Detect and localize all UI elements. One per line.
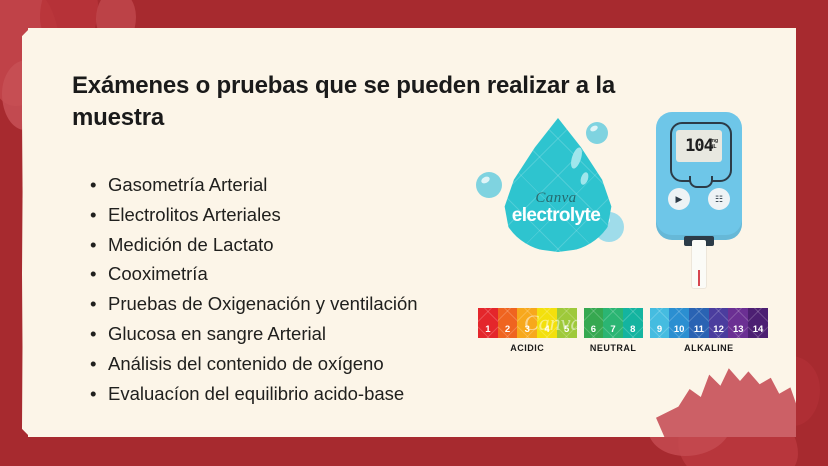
paint-splatter-decoration [656, 357, 796, 437]
ph-value-label: 9 [657, 324, 662, 338]
list-item-label: Glucosa en sangre Arterial [108, 323, 326, 344]
ph-value-label: 3 [525, 324, 530, 338]
meter-screen-notch [689, 176, 713, 188]
ph-value-label: 14 [753, 324, 764, 338]
unit-denominator: dL [711, 144, 717, 150]
ph-value-label: 12 [713, 324, 724, 338]
blood-sample-indicator [698, 270, 700, 286]
ph-group-label: ALKALINE [650, 343, 768, 353]
ph-group-label: NEUTRAL [584, 343, 643, 353]
ph-cell: 1 [478, 308, 498, 338]
list-item: •Evaluacíon del equilibrio acido-base [90, 379, 530, 409]
ph-cell: 4 [537, 308, 557, 338]
ph-cell: 8 [623, 308, 643, 338]
ph-value-label: 5 [564, 324, 569, 338]
glucose-meter-illustration: 104 mg dL ▶ ☷ [656, 112, 742, 282]
ph-group: 678 [584, 308, 643, 338]
ph-group: 91011121314 [650, 308, 768, 338]
bullet-marker-icon: • [90, 319, 96, 349]
list-item: •Glucosa en sangre Arterial [90, 319, 530, 349]
ph-scale-graphic: 1234567891011121314 ACIDICNEUTRALALKALIN… [478, 308, 768, 353]
water-bubble-icon [586, 122, 608, 144]
ph-scale-bands: 1234567891011121314 [478, 308, 768, 338]
list-item-label: Evaluacíon del equilibrio acido-base [108, 383, 404, 404]
list-item-label: Pruebas de Oxigenación y ventilación [108, 293, 418, 314]
list-item-label: Gasometría Arterial [108, 174, 267, 195]
slide-canvas: Exámenes o pruebas que se pueden realiza… [0, 0, 828, 466]
bullet-marker-icon: • [90, 170, 96, 200]
ph-value-label: 8 [630, 324, 635, 338]
list-item-label: Medición de Lactato [108, 234, 274, 255]
glucose-unit-label: mg dL [711, 139, 719, 150]
meter-left-button[interactable]: ▶ [668, 188, 690, 210]
ph-group-label: ACIDIC [478, 343, 577, 353]
ph-scale-labels: ACIDICNEUTRALALKALINE [478, 343, 768, 353]
bullet-marker-icon: • [90, 379, 96, 409]
ph-value-label: 2 [505, 324, 510, 338]
list-item-label: Electrolitos Arteriales [108, 204, 281, 225]
ph-value-label: 11 [694, 324, 704, 338]
list-item-label: Análisis del contenido de oxígeno [108, 353, 384, 374]
electrolyte-drop-illustration: Canva electrolyte [476, 112, 636, 262]
electrolyte-label: electrolyte [470, 205, 642, 227]
list-item-label: Cooximetría [108, 263, 208, 284]
ph-cell: 13 [728, 308, 748, 338]
ph-value-label: 1 [485, 324, 490, 338]
meter-right-button[interactable]: ☷ [708, 188, 730, 210]
list-item: •Cooximetría [90, 259, 530, 289]
list-item: •Gasometría Arterial [90, 170, 530, 200]
memory-icon: ☷ [715, 194, 723, 205]
meter-display: 104 mg dL [676, 130, 722, 162]
ph-cell: 14 [748, 308, 768, 338]
play-triangle-icon: ▶ [676, 194, 683, 205]
ph-cell: 7 [603, 308, 623, 338]
ph-cell: 12 [709, 308, 729, 338]
ph-value-label: 4 [544, 324, 549, 338]
ph-cell: 3 [517, 308, 537, 338]
bullet-marker-icon: • [90, 289, 96, 319]
ph-value-label: 6 [591, 324, 596, 338]
list-item: •Electrolitos Arteriales [90, 200, 530, 230]
list-item: •Análisis del contenido de oxígeno [90, 349, 530, 379]
bullet-marker-icon: • [90, 259, 96, 289]
exam-list: •Gasometría Arterial •Electrolitos Arter… [90, 170, 530, 408]
ph-cell: 9 [650, 308, 670, 338]
ph-cell: 6 [584, 308, 604, 338]
ph-cell: 10 [669, 308, 689, 338]
ph-value-label: 7 [610, 324, 615, 338]
ph-cell: 11 [689, 308, 709, 338]
bullet-marker-icon: • [90, 349, 96, 379]
list-item: •Pruebas de Oxigenación y ventilación [90, 289, 530, 319]
ph-group: 12345 [478, 308, 577, 338]
bullet-marker-icon: • [90, 200, 96, 230]
list-item: •Medición de Lactato [90, 230, 530, 260]
ph-value-label: 13 [733, 324, 744, 338]
ph-value-label: 10 [674, 324, 685, 338]
bullet-marker-icon: • [90, 230, 96, 260]
glucose-reading-value: 104 [685, 136, 713, 156]
ph-cell: 5 [557, 308, 577, 338]
ph-cell: 2 [498, 308, 518, 338]
